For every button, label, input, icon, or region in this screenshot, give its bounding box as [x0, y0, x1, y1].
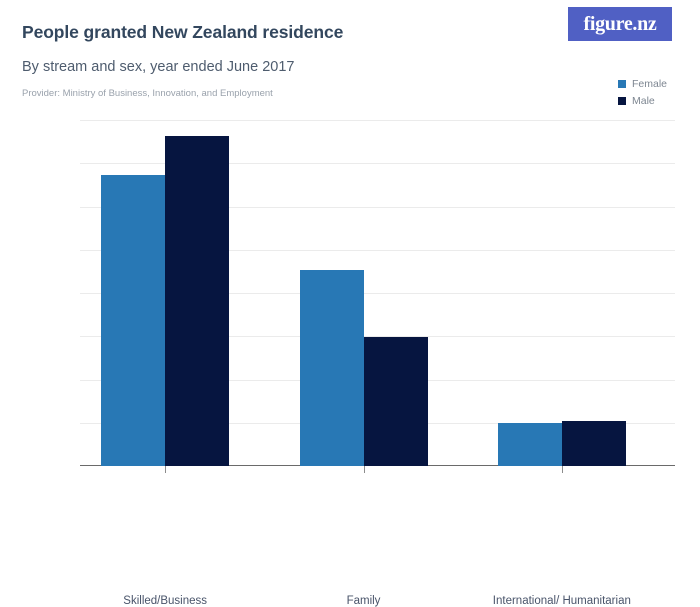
legend-swatch-icon	[618, 97, 626, 105]
x-axis-category-label: Family	[347, 595, 381, 607]
chart-subtitle: By stream and sex, year ended June 2017	[22, 59, 294, 75]
x-axis-tick-mark	[562, 466, 563, 473]
bar-male-1[interactable]	[364, 337, 428, 466]
figurenz-logo-text: figure.nz	[583, 14, 656, 34]
legend-item-male[interactable]: Male	[618, 94, 698, 108]
chart-legend: FemaleMale	[618, 77, 698, 111]
bar-female-2[interactable]	[498, 423, 562, 466]
x-axis-tick-mark	[165, 466, 166, 473]
bar-female-1[interactable]	[300, 270, 364, 466]
bar-male-2[interactable]	[562, 421, 626, 466]
legend-item-female[interactable]: Female	[618, 77, 698, 91]
x-axis-category-label: Skilled/Business	[123, 595, 207, 607]
bar-male-0[interactable]	[165, 136, 229, 466]
gridline	[80, 120, 675, 121]
legend-swatch-icon	[618, 80, 626, 88]
chart-figure: People granted New Zealand residence By …	[0, 0, 700, 525]
chart-title: People granted New Zealand residence	[22, 22, 343, 43]
bar-female-0[interactable]	[101, 175, 165, 466]
plot-area: 16,00014,00012,00010,0008,0006,0004,0002…	[80, 120, 675, 466]
legend-label: Female	[632, 79, 667, 90]
chart-provider-note: Provider: Ministry of Business, Innovati…	[22, 88, 273, 99]
legend-label: Male	[632, 96, 655, 107]
x-axis-tick-mark	[364, 466, 365, 473]
x-axis-category-label: International/ Humanitarian	[493, 595, 631, 607]
figurenz-logo[interactable]: figure.nz	[568, 7, 672, 41]
